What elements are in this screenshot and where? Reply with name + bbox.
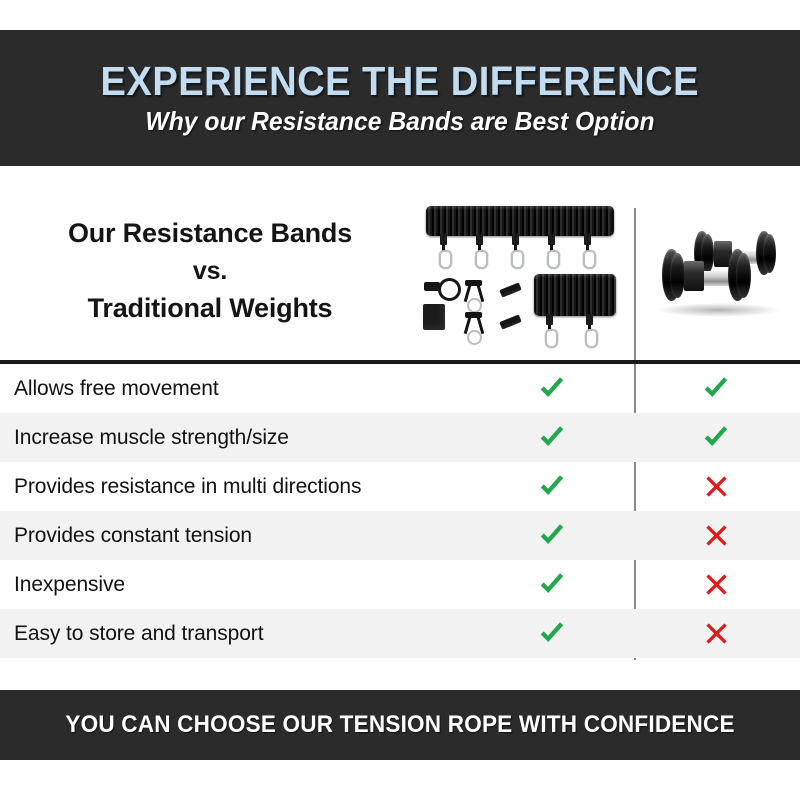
adjustable-dumbbells-image <box>648 215 798 345</box>
green-check-icon <box>537 521 567 551</box>
green-check-icon <box>701 374 731 404</box>
ankle-strap-icon <box>499 314 521 329</box>
green-check-icon <box>537 374 567 404</box>
table-row: Allows free movement <box>0 364 800 413</box>
green-check-icon <box>701 423 731 453</box>
red-cross-icon <box>704 474 729 499</box>
cell-weights <box>686 560 746 609</box>
cell-bands <box>522 462 582 511</box>
green-check-icon <box>537 423 567 453</box>
header-line-bands: Our Resistance Bands <box>68 214 352 253</box>
comparison-infographic: EXPERIENCE THE DIFFERENCE Why our Resist… <box>0 0 800 800</box>
header-line-vs: vs. <box>193 253 227 289</box>
top-banner: EXPERIENCE THE DIFFERENCE Why our Resist… <box>0 30 800 166</box>
footer-text: YOU CAN CHOOSE OUR TENSION ROPE WITH CON… <box>65 711 734 739</box>
table-row: Inexpensive <box>0 560 800 609</box>
band-tube-top <box>426 206 614 236</box>
cell-bands <box>522 511 582 560</box>
cell-weights <box>686 413 746 462</box>
table-row: Provides constant tension <box>0 511 800 560</box>
dumbbell-plate <box>670 253 685 298</box>
cell-bands <box>522 364 582 413</box>
table-row: Provides resistance in multi directions <box>0 462 800 511</box>
cell-bands <box>522 609 582 658</box>
row-label: Provides constant tension <box>0 524 519 548</box>
table-row: Easy to store and transport <box>0 609 800 658</box>
row-label: Inexpensive <box>0 573 519 597</box>
handle-ring-icon <box>467 330 482 345</box>
comparison-header-text: Our Resistance Bands vs. Traditional Wei… <box>0 180 420 362</box>
green-check-icon <box>537 472 567 502</box>
carabiner-icon <box>583 250 596 269</box>
carabiner-icon <box>511 250 524 269</box>
header-line-weights: Traditional Weights <box>88 289 333 328</box>
ankle-strap-icon <box>499 282 521 297</box>
green-check-icon <box>537 570 567 600</box>
row-label: Easy to store and transport <box>0 622 519 646</box>
row-label: Provides resistance in multi directions <box>0 475 519 499</box>
handle-ring-icon <box>467 298 482 313</box>
table-row: Increase muscle strength/size <box>0 413 800 462</box>
dumbbell-plate <box>736 253 751 298</box>
carabiner-icon <box>475 250 488 269</box>
cell-weights <box>686 462 746 511</box>
red-cross-icon <box>704 621 729 646</box>
red-cross-icon <box>704 572 729 597</box>
cell-weights <box>686 609 746 658</box>
carabiner-icon <box>547 250 560 269</box>
row-label: Allows free movement <box>0 377 519 401</box>
cell-weights <box>686 511 746 560</box>
band-tube-bottom <box>534 274 616 316</box>
comparison-table: Allows free movement Increase muscle str… <box>0 364 800 658</box>
row-label: Increase muscle strength/size <box>0 426 519 450</box>
cell-weights <box>686 364 746 413</box>
page-subtitle: Why our Resistance Bands are Best Option <box>145 107 654 136</box>
resistance-bands-image <box>418 200 623 360</box>
cell-bands <box>522 413 582 462</box>
red-cross-icon <box>704 523 729 548</box>
carabiner-icon <box>439 250 452 269</box>
carry-pouch-icon <box>423 304 445 330</box>
cell-bands <box>522 560 582 609</box>
carabiner-icon <box>585 329 598 348</box>
dumbbell-shadow <box>656 303 781 317</box>
dumbbell-plate <box>763 234 776 273</box>
green-check-icon <box>537 619 567 649</box>
page-title: EXPERIENCE THE DIFFERENCE <box>101 60 699 103</box>
carabiner-icon <box>545 329 558 348</box>
bottom-banner: YOU CAN CHOOSE OUR TENSION ROPE WITH CON… <box>0 690 800 760</box>
door-anchor-loop-icon <box>438 278 461 301</box>
dumbbell-block <box>684 261 704 291</box>
